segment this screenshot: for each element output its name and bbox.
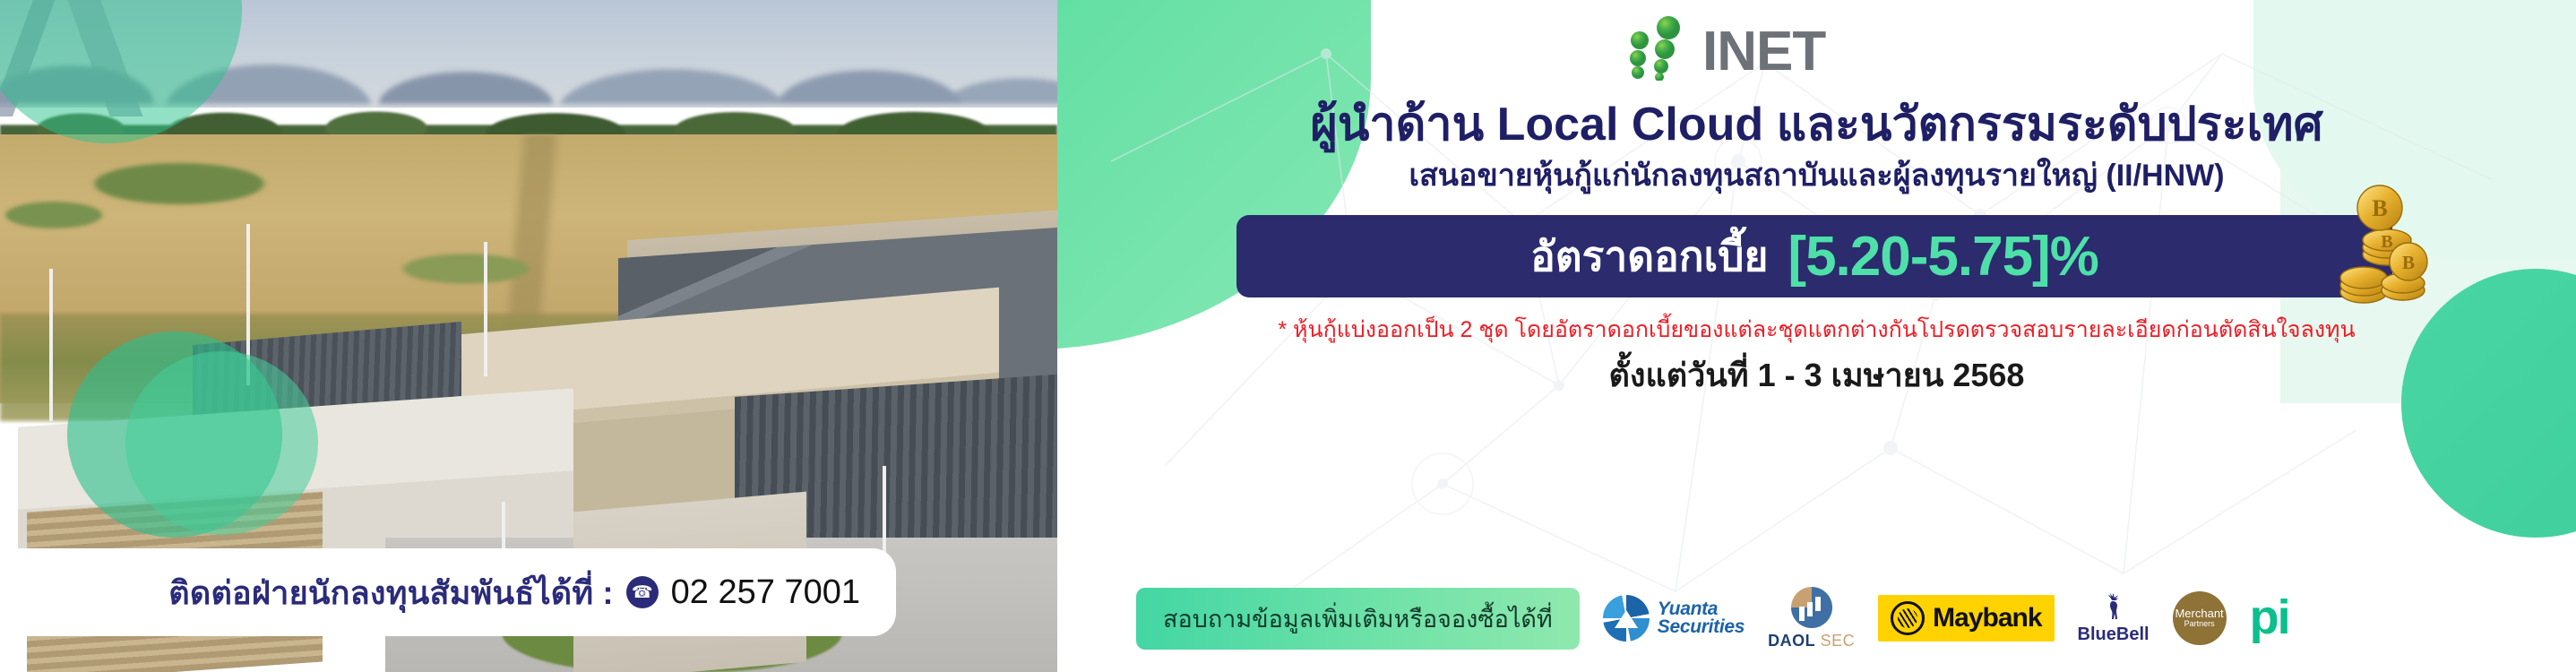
partner-logo-maybank[interactable]: Maybank [1878,595,2054,642]
yuanta-line2: Securities [1658,616,1745,637]
contact-line: ติดต่อฝ่ายนักลงทุนสัมพันธ์ได้ที่ : ☎ 02 … [168,567,860,618]
merchant-line1: Merchant [2175,607,2223,620]
svg-text:B: B [2381,232,2392,252]
footnote: * หุ้นกู้แบ่งออกเป็น 2 ชุด โดยอัตราดอกเบ… [1057,312,2576,348]
offer-date-line: ตั้งแต่วันที่ 1 - 3 เมษายน 2568 [1057,349,2576,401]
interest-rate-value: [5.20-5.75]% [1788,225,2098,289]
maybank-tiger-icon [1891,601,1925,635]
contact-label: ติดต่อฝ่ายนักลงทุนสัมพันธ์ได้ที่ : [168,567,613,618]
yuanta-star-icon [1603,595,1650,642]
yuanta-wordmark: Yuanta Securities [1658,600,1745,636]
interest-rate-box: อัตราดอกเบี้ย [5.20-5.75]% [1236,215,2392,297]
merchant-circle-icon: Merchant Partners [2173,591,2227,645]
svg-text:B: B [2372,195,2387,221]
partner-logo-daol[interactable]: DAOL SEC [1768,587,1855,650]
partner-logo-bluebell[interactable]: BlueBell [2078,592,2150,645]
partner-logo-pi[interactable]: pi [2250,599,2289,637]
cta-button[interactable]: สอบถามข้อมูลเพิ่มเติมหรือจองซื้อได้ที่ [1136,588,1580,650]
cta-partner-row: สอบถามข้อมูลเพิ่มเติมหรือจองซื้อได้ที่ Y… [1057,582,2576,654]
daol-circle-icon [1791,587,1832,628]
contact-phone-number[interactable]: 02 257 7001 [671,573,860,612]
svg-text:B: B [2402,252,2415,273]
photo-pole [484,242,487,376]
pi-wordmark: pi [2250,599,2289,637]
daol-wordmark: DAOL SEC [1768,632,1855,650]
campus-photo: ติดต่อฝ่ายนักลงทุนสัมพันธ์ได้ที่ : ☎ 02 … [0,0,1057,672]
photo-pole [49,269,53,421]
contact-card: ติดต่อฝ่ายนักลงทุนสัมพันธ์ได้ที่ : ☎ 02 … [0,548,896,636]
content-panel: INET ผู้นำด้าน Local Cloud และนวัตกรรมระ… [1057,0,2576,672]
inet-wordmark: INET [1702,20,1825,83]
maybank-wordmark: Maybank [1933,603,2041,633]
daol-line2: SEC [1821,632,1856,650]
promo-banner: ติดต่อฝ่ายนักลงทุนสัมพันธ์ได้ที่ : ☎ 02 … [0,0,2576,672]
partner-logo-merchant[interactable]: Merchant Partners [2173,591,2227,645]
deer-icon [2100,592,2127,623]
partner-logo-yuanta[interactable]: Yuanta Securities [1603,595,1745,642]
interest-rate-label: อัตราดอกเบี้ย [1530,224,1768,289]
daol-line1: DAOL [1768,632,1815,650]
gold-coins-icon: B B B [2324,185,2430,319]
bluebell-wordmark: BlueBell [2078,625,2150,645]
phone-icon: ☎ [626,576,659,608]
headline: ผู้นำด้าน Local Cloud และนวัตกรรมระดับปร… [1057,86,2576,160]
photo-pole [246,224,250,385]
logo-bubbles-icon [1604,16,1711,81]
inet-logo: INET [1604,16,1980,81]
merchant-line2: Partners [2184,620,2215,628]
